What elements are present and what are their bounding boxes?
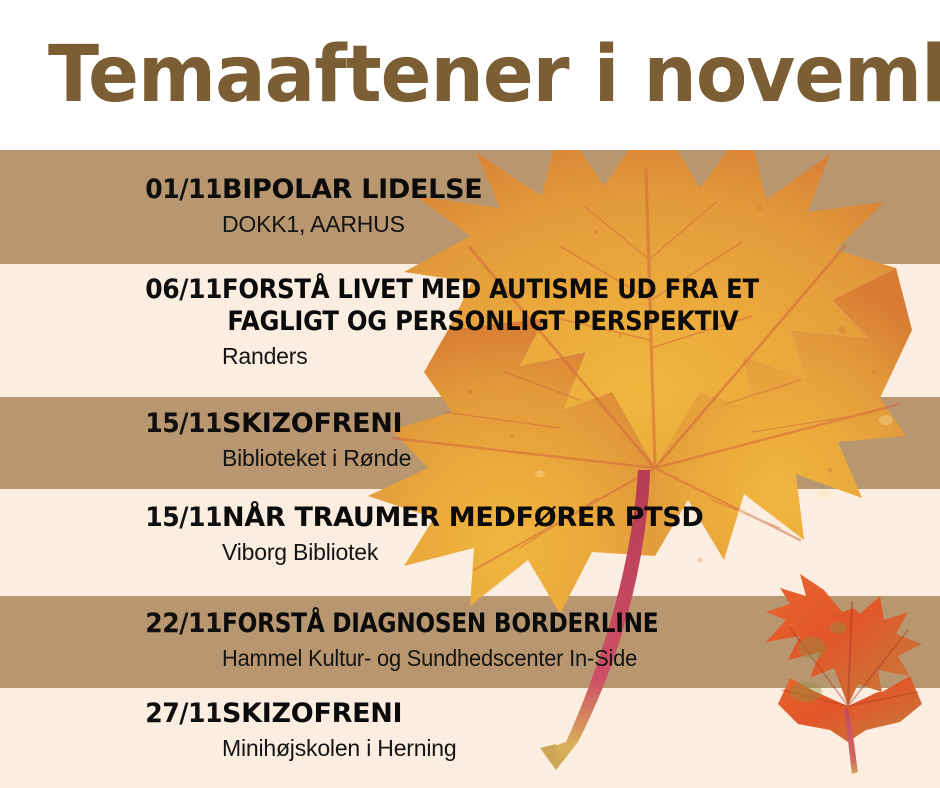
event-venue: DOKK1, AARHUS [222, 210, 482, 239]
event-body: SKIZOFRENIMinihøjskolen i Herning [222, 698, 456, 763]
event-body: SKIZOFRENIBiblioteket i Rønde [222, 408, 411, 473]
event-title: BIPOLAR LIDELSE [222, 174, 482, 206]
event-venue: Randers [222, 342, 818, 371]
event-title-line1: SKIZOFRENI [222, 408, 402, 439]
event-row[interactable]: 27/11SKIZOFRENIMinihøjskolen i Herning [0, 698, 940, 763]
event-row[interactable]: 15/11SKIZOFRENIBiblioteket i Rønde [0, 408, 940, 473]
event-venue: Biblioteket i Rønde [222, 444, 411, 473]
event-title-line1: FORSTÅ LIVET MED AUTISME UD FRA ET [222, 274, 759, 305]
event-title: NÅR TRAUMER MEDFØRER PTSD [222, 502, 704, 534]
event-title-line1: BIPOLAR LIDELSE [222, 174, 482, 205]
event-venue: Hammel Kultur- og Sundhedscenter In-Side [222, 644, 704, 673]
event-body: NÅR TRAUMER MEDFØRER PTSDViborg Bibliote… [222, 502, 704, 567]
event-date: 06/11 [16, 274, 222, 305]
event-date: 01/11 [16, 174, 222, 205]
event-title-line1: SKIZOFRENI [222, 698, 402, 729]
event-date: 15/11 [16, 502, 222, 533]
event-title-line1: NÅR TRAUMER MEDFØRER PTSD [222, 502, 704, 533]
event-row[interactable]: 15/11NÅR TRAUMER MEDFØRER PTSDViborg Bib… [0, 502, 940, 567]
event-date: 22/11 [16, 608, 222, 639]
event-venue: Minihøjskolen i Herning [222, 734, 456, 763]
event-title: FORSTÅ DIAGNOSEN BORDERLINE [222, 608, 658, 640]
event-row[interactable]: 22/11FORSTÅ DIAGNOSEN BORDERLINEHammel K… [0, 608, 940, 673]
event-body: FORSTÅ DIAGNOSEN BORDERLINEHammel Kultur… [222, 608, 729, 673]
event-body: FORSTÅ LIVET MED AUTISME UD FRA ETFAGLIG… [222, 274, 818, 370]
poster-header: Temaaftener i november [0, 0, 940, 150]
poster: Temaaftener i november 01/11BIPOLAR LIDE… [0, 0, 940, 788]
event-venue: Viborg Bibliotek [222, 538, 704, 567]
event-date: 15/11 [16, 408, 222, 439]
event-body: BIPOLAR LIDELSEDOKK1, AARHUS [222, 174, 482, 239]
page-title: Temaaftener i november [48, 36, 940, 114]
event-title-line1: FORSTÅ DIAGNOSEN BORDERLINE [222, 608, 658, 639]
event-title: SKIZOFRENI [222, 698, 456, 730]
event-title: SKIZOFRENI [222, 408, 411, 440]
event-row[interactable]: 06/11FORSTÅ LIVET MED AUTISME UD FRA ETF… [0, 274, 940, 370]
event-title-line2: FAGLIGT OG PERSONLIGT PERSPEKTIV [227, 306, 758, 338]
event-title: FORSTÅ LIVET MED AUTISME UD FRA ETFAGLIG… [222, 274, 759, 338]
event-row[interactable]: 01/11BIPOLAR LIDELSEDOKK1, AARHUS [0, 174, 940, 239]
event-date: 27/11 [16, 698, 222, 729]
